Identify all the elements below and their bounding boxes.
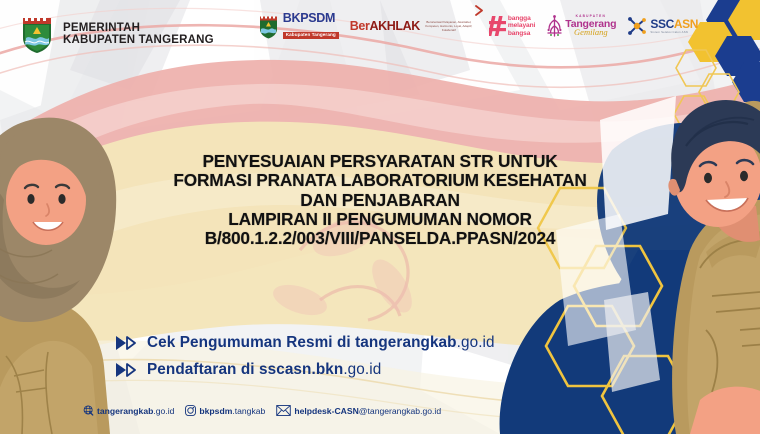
bkpsdm-subtitle: Kabupaten Tangerang xyxy=(283,32,339,39)
cta-2-strong: sscasn.bkn xyxy=(259,361,343,378)
logo-bangga-melayani-bangsa: bangga melayani bangsa xyxy=(489,9,535,43)
cta-item-registration[interactable]: Pendaftaran di sscasn.bkn.go.id xyxy=(116,361,495,379)
call-to-action-list: Cek Pengumuman Resmi di tangerangkab.go.… xyxy=(116,334,495,388)
footer-website-tail: .go.id xyxy=(153,406,174,416)
headline-line-5: B/800.1.2.2/003/VIII/PANSELDA.PPASN/2024 xyxy=(28,229,732,248)
bangga-line-1: bangga xyxy=(508,15,535,22)
cta-2-tail: .go.id xyxy=(343,361,381,378)
footer-instagram-tail: .tangkab xyxy=(232,406,265,416)
logo-berakhlak: BerAKHLAK Berorientasi Pelayanan, Akunta… xyxy=(350,9,478,43)
cta-1-strong: tangerangkab xyxy=(355,334,457,351)
partner-logo-strip: BKPSDM Kabupaten Tangerang BerAKHLAK Ber… xyxy=(258,9,698,43)
logo-sscasn: SSCASN Sistem Seleksi Calon ASN xyxy=(627,9,698,43)
instagram-icon xyxy=(185,405,196,416)
berakhlak-arrow-icon xyxy=(475,5,483,16)
footer-instagram-strong: bkpsdm xyxy=(199,406,232,416)
double-chevron-right-icon xyxy=(116,362,138,378)
sscasn-title-b: ASN xyxy=(674,17,698,31)
cta-item-announcement[interactable]: Cek Pengumuman Resmi di tangerangkab.go.… xyxy=(116,334,495,352)
footer-instagram[interactable]: bkpsdm.tangkab xyxy=(185,405,265,416)
berakhlak-title-b: AKHLAK xyxy=(369,19,419,33)
headline-line-2: FORMASI PRANATA LABORATORIUM KESEHATAN xyxy=(28,171,732,190)
sscasn-spark-icon xyxy=(627,16,647,36)
tangerang-regency-crest-icon xyxy=(20,14,54,54)
envelope-icon xyxy=(276,405,291,416)
logo-tangerang-gemilang: KABUPATEN Tangerang Gemilang xyxy=(546,9,616,43)
bkpsdm-title: BKPSDM xyxy=(283,12,339,25)
sscasn-subtitle: Sistem Seleksi Calon ASN xyxy=(650,31,698,34)
announcement-headline: PENYESUAIAN PERSYARATAN STR UNTUK FORMAS… xyxy=(0,152,760,249)
footer-website[interactable]: tangerangkab.go.id xyxy=(83,405,174,416)
cta-2-lead: Pendaftaran di xyxy=(147,361,259,378)
double-chevron-right-icon xyxy=(116,335,138,351)
cta-1-lead: Cek Pengumuman Resmi di xyxy=(147,334,355,351)
gov-line-1: PEMERINTAH xyxy=(63,22,214,34)
footer-email-tail: @tangerangkab.go.id xyxy=(359,406,441,416)
bangga-line-3: bangsa xyxy=(508,30,535,37)
bangga-line-2: melayani xyxy=(508,22,535,29)
government-brand-text: PEMERINTAH KABUPATEN TANGERANG xyxy=(63,22,214,47)
headline-line-4: LAMPIRAN II PENGUMUMAN NOMOR xyxy=(28,210,732,229)
government-brand: PEMERINTAH KABUPATEN TANGERANG xyxy=(20,14,214,54)
berakhlak-title-a: Ber xyxy=(350,19,370,33)
footer-email[interactable]: helpdesk-CASN@tangerangkab.go.id xyxy=(276,405,441,416)
footer-contact-bar: tangerangkab.go.id bkpsdm.tangkab helpde… xyxy=(83,405,441,416)
sscasn-title-a: SSC xyxy=(650,17,673,31)
globe-icon xyxy=(83,405,94,416)
logo-bkpsdm: BKPSDM Kabupaten Tangerang xyxy=(258,9,339,43)
berakhlak-subtitle: Berorientasi Pelayanan, Akuntabel, Kompe… xyxy=(420,21,478,33)
gov-line-2: KABUPATEN TANGERANG xyxy=(63,34,214,46)
bkpsdm-crest-icon xyxy=(258,14,279,39)
hash-icon xyxy=(489,16,506,36)
tangerang-ornament-icon xyxy=(546,14,563,38)
footer-website-strong: tangerangkab xyxy=(97,406,153,416)
headline-line-3: DAN PENJABARAN xyxy=(28,191,732,210)
cta-1-tail: .go.id xyxy=(457,334,495,351)
footer-email-strong: helpdesk-CASN xyxy=(294,406,358,416)
announcement-poster: PEMERINTAH KABUPATEN TANGERANG BKPSDM Ka… xyxy=(0,0,760,434)
headline-line-1: PENYESUAIAN PERSYARATAN STR UNTUK xyxy=(28,152,732,171)
